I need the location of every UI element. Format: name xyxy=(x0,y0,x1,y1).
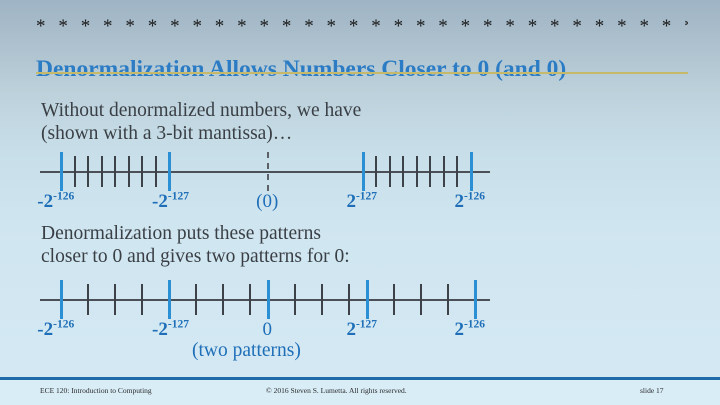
tick-minor xyxy=(402,156,404,187)
body-paragraph-2: Denormalization puts these patterns clos… xyxy=(41,222,561,268)
slide-canvas: * * * * * * * * * * * * * * * * * * * * … xyxy=(0,0,720,405)
axis-label: 0 xyxy=(263,320,273,340)
tick-minor xyxy=(141,284,143,315)
tick-minor xyxy=(87,284,89,315)
footer-slide-number: slide 17 xyxy=(640,386,664,396)
body-paragraph-1: Without denormalized numbers, we have (s… xyxy=(41,99,561,145)
tick-minor xyxy=(249,284,251,315)
numberline-with-denormalization xyxy=(40,280,490,320)
axis-label: 2-127 xyxy=(346,320,377,340)
axis-label-exponent: -126 xyxy=(464,319,485,331)
axis-label: (0) xyxy=(256,192,278,212)
tick-minor xyxy=(321,284,323,315)
axis-label-base: 2 xyxy=(454,319,464,340)
tick-major xyxy=(168,280,171,319)
axis-label: -2-126 xyxy=(37,320,74,340)
axis-label-base: 0 xyxy=(263,319,273,340)
axis-label-base: -2 xyxy=(37,191,53,212)
axis-line xyxy=(40,171,490,173)
axis-label-exponent: -127 xyxy=(356,319,377,331)
axis-label-exponent: -127 xyxy=(168,191,189,203)
numberline-without-denormalization xyxy=(40,152,490,192)
tick-minor xyxy=(141,156,143,187)
tick-minor xyxy=(348,284,350,315)
axis-label-exponent: -126 xyxy=(464,191,485,203)
tick-minor xyxy=(222,284,224,315)
tick-minor xyxy=(429,156,431,187)
numberline-1-labels: -2-126-2-127(0)2-1272-126 xyxy=(40,192,490,216)
tick-minor xyxy=(456,156,458,187)
axis-label-base: 2 xyxy=(454,191,464,212)
axis-label-base: -2 xyxy=(152,191,168,212)
tick-minor xyxy=(294,284,296,315)
tick-minor xyxy=(114,284,116,315)
tick-zero-dashed xyxy=(267,152,271,191)
axis-label-base: 2 xyxy=(346,319,356,340)
tick-major xyxy=(60,152,63,191)
tick-minor xyxy=(101,156,103,187)
axis-label: -2-126 xyxy=(37,192,74,212)
tick-major xyxy=(60,280,63,319)
tick-minor xyxy=(416,156,418,187)
tick-major xyxy=(474,280,477,319)
tick-major xyxy=(366,280,369,319)
axis-label-exponent: -127 xyxy=(356,191,377,203)
axis-label: 2-126 xyxy=(454,320,485,340)
tick-minor xyxy=(87,156,89,187)
tick-minor xyxy=(389,156,391,187)
title-divider xyxy=(36,72,688,74)
tick-minor xyxy=(155,156,157,187)
tick-minor xyxy=(420,284,422,315)
two-patterns-note: (two patterns) xyxy=(192,340,301,362)
axis-label: -2-127 xyxy=(152,320,189,340)
footer-copyright: © 2016 Steven S. Lumetta. All rights res… xyxy=(266,386,407,396)
tick-minor xyxy=(128,156,130,187)
tick-minor xyxy=(447,284,449,315)
tick-major xyxy=(267,280,270,319)
tick-minor xyxy=(393,284,395,315)
page-title: Denormalization Allows Numbers Closer to… xyxy=(36,55,696,83)
axis-label-base: (0) xyxy=(256,191,278,212)
axis-label-base: -2 xyxy=(152,319,168,340)
tick-minor xyxy=(114,156,116,187)
axis-label-exponent: -127 xyxy=(168,319,189,331)
axis-label-base: 2 xyxy=(346,191,356,212)
tick-minor xyxy=(375,156,377,187)
tick-major xyxy=(168,152,171,191)
slide-footer: ECE 120: Introduction to Computing © 201… xyxy=(0,380,720,405)
axis-label: 2-126 xyxy=(454,192,485,212)
axis-label: 2-127 xyxy=(346,192,377,212)
axis-label-exponent: -126 xyxy=(53,319,74,331)
axis-label-base: -2 xyxy=(37,319,53,340)
tick-minor xyxy=(443,156,445,187)
axis-line xyxy=(40,299,490,301)
axis-label-exponent: -126 xyxy=(53,191,74,203)
tick-minor xyxy=(74,156,76,187)
tick-major xyxy=(362,152,365,191)
footer-course-name: ECE 120: Introduction to Computing xyxy=(40,386,152,396)
tick-major xyxy=(470,152,473,191)
axis-label: -2-127 xyxy=(152,192,189,212)
decorative-star-row: * * * * * * * * * * * * * * * * * * * * … xyxy=(36,16,688,38)
tick-minor xyxy=(195,284,197,315)
